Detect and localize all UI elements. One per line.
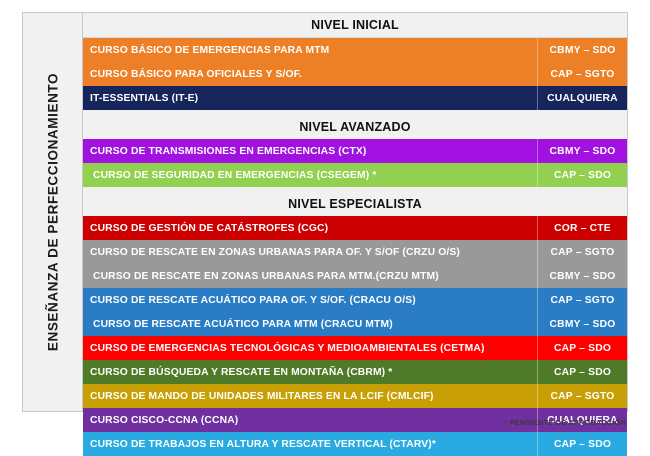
course-name: IT-ESSENTIALS (IT-E) xyxy=(83,86,537,110)
course-name: CURSO DE RESCATE ACUÁTICO PARA OF. Y S/O… xyxy=(83,288,537,312)
course-name: CURSO BÁSICO PARA OFICIALES Y S/OF. xyxy=(83,62,537,86)
course-row[interactable]: CURSO DE RESCATE EN ZONAS URBANAS PARA M… xyxy=(83,264,627,288)
course-rank-code: CAP – SDO xyxy=(537,163,627,187)
level-header: NIVEL AVANZADO xyxy=(83,114,627,139)
course-name: CURSO BÁSICO DE EMERGENCIAS PARA MTM xyxy=(83,38,537,62)
course-row[interactable]: CURSO DE RESCATE ACUÁTICO PARA OF. Y S/O… xyxy=(83,288,627,312)
course-name: CURSO DE GESTIÓN DE CATÁSTROFES (CGC) xyxy=(83,216,537,240)
course-row[interactable]: CURSO DE MANDO DE UNIDADES MILITARES EN … xyxy=(83,384,627,408)
course-name: CURSO DE RESCATE ACUÁTICO PARA MTM (CRAC… xyxy=(86,312,537,336)
course-name: CURSO DE SEGURIDAD EN EMERGENCIAS (CSEGE… xyxy=(86,163,537,187)
course-name: CURSO DE BÚSQUEDA Y RESCATE EN MONTAÑA (… xyxy=(83,360,537,384)
footnote-pending-approval: * PENDIENTE DE APROBACCIÓN xyxy=(504,418,626,427)
course-row[interactable]: CURSO DE EMERGENCIAS TECNOLÓGICAS Y MEDI… xyxy=(83,336,627,360)
course-rank-code: CBMY – SDO xyxy=(537,312,627,336)
course-rank-code: CBMY – SDO xyxy=(537,139,627,163)
course-name: CURSO DE TRANSMISIONES EN EMERGENCIAS (C… xyxy=(83,139,537,163)
course-rank-code: CAP – SDO xyxy=(537,432,627,456)
level-header: NIVEL INICIAL xyxy=(83,13,627,38)
training-table: ENSEÑANZA DE PERFECCIONAMIENTO NIVEL INI… xyxy=(22,12,628,412)
course-rank-code: CBMY – SDO xyxy=(537,264,627,288)
course-row[interactable]: CURSO DE GESTIÓN DE CATÁSTROFES (CGC)COR… xyxy=(83,216,627,240)
course-row[interactable]: CURSO BÁSICO PARA OFICIALES Y S/OF.CAP –… xyxy=(83,62,627,86)
vertical-title-cell: ENSEÑANZA DE PERFECCIONAMIENTO xyxy=(23,13,83,411)
course-name: CURSO DE RESCATE EN ZONAS URBANAS PARA M… xyxy=(86,264,537,288)
levels-content: NIVEL INICIALCURSO BÁSICO DE EMERGENCIAS… xyxy=(83,13,627,411)
course-rank-code: CAP – SGTO xyxy=(537,288,627,312)
course-row[interactable]: CURSO DE RESCATE EN ZONAS URBANAS PARA O… xyxy=(83,240,627,264)
course-name: CURSO DE EMERGENCIAS TECNOLÓGICAS Y MEDI… xyxy=(83,336,537,360)
level-header: NIVEL ESPECIALISTA xyxy=(83,191,627,216)
training-levels-page: ENSEÑANZA DE PERFECCIONAMIENTO NIVEL INI… xyxy=(0,0,650,438)
course-rank-code: CAP – SGTO xyxy=(537,384,627,408)
course-row[interactable]: CURSO DE SEGURIDAD EN EMERGENCIAS (CSEGE… xyxy=(83,163,627,187)
course-rank-code: CAP – SGTO xyxy=(537,62,627,86)
course-rank-code: COR – CTE xyxy=(537,216,627,240)
course-row[interactable]: CURSO DE RESCATE ACUÁTICO PARA MTM (CRAC… xyxy=(83,312,627,336)
course-name: CURSO DE TRABAJOS EN ALTURA Y RESCATE VE… xyxy=(83,432,537,456)
course-name: CURSO CISCO-CCNA (CCNA) xyxy=(83,408,537,432)
course-rank-code: CAP – SGTO xyxy=(537,240,627,264)
course-row[interactable]: IT-ESSENTIALS (IT-E)CUALQUIERA xyxy=(83,86,627,110)
course-rank-code: CUALQUIERA xyxy=(537,86,627,110)
course-row[interactable]: CURSO BÁSICO DE EMERGENCIAS PARA MTMCBMY… xyxy=(83,38,627,62)
course-rank-code: CAP – SDO xyxy=(537,360,627,384)
course-rank-code: CBMY – SDO xyxy=(537,38,627,62)
course-name: CURSO DE RESCATE EN ZONAS URBANAS PARA O… xyxy=(83,240,537,264)
vertical-title-label: ENSEÑANZA DE PERFECCIONAMIENTO xyxy=(45,73,60,351)
course-row[interactable]: CURSO DE BÚSQUEDA Y RESCATE EN MONTAÑA (… xyxy=(83,360,627,384)
course-row[interactable]: CURSO DE TRANSMISIONES EN EMERGENCIAS (C… xyxy=(83,139,627,163)
course-name: CURSO DE MANDO DE UNIDADES MILITARES EN … xyxy=(83,384,537,408)
course-row[interactable]: CURSO DE TRABAJOS EN ALTURA Y RESCATE VE… xyxy=(83,432,627,456)
course-rank-code: CAP – SDO xyxy=(537,336,627,360)
